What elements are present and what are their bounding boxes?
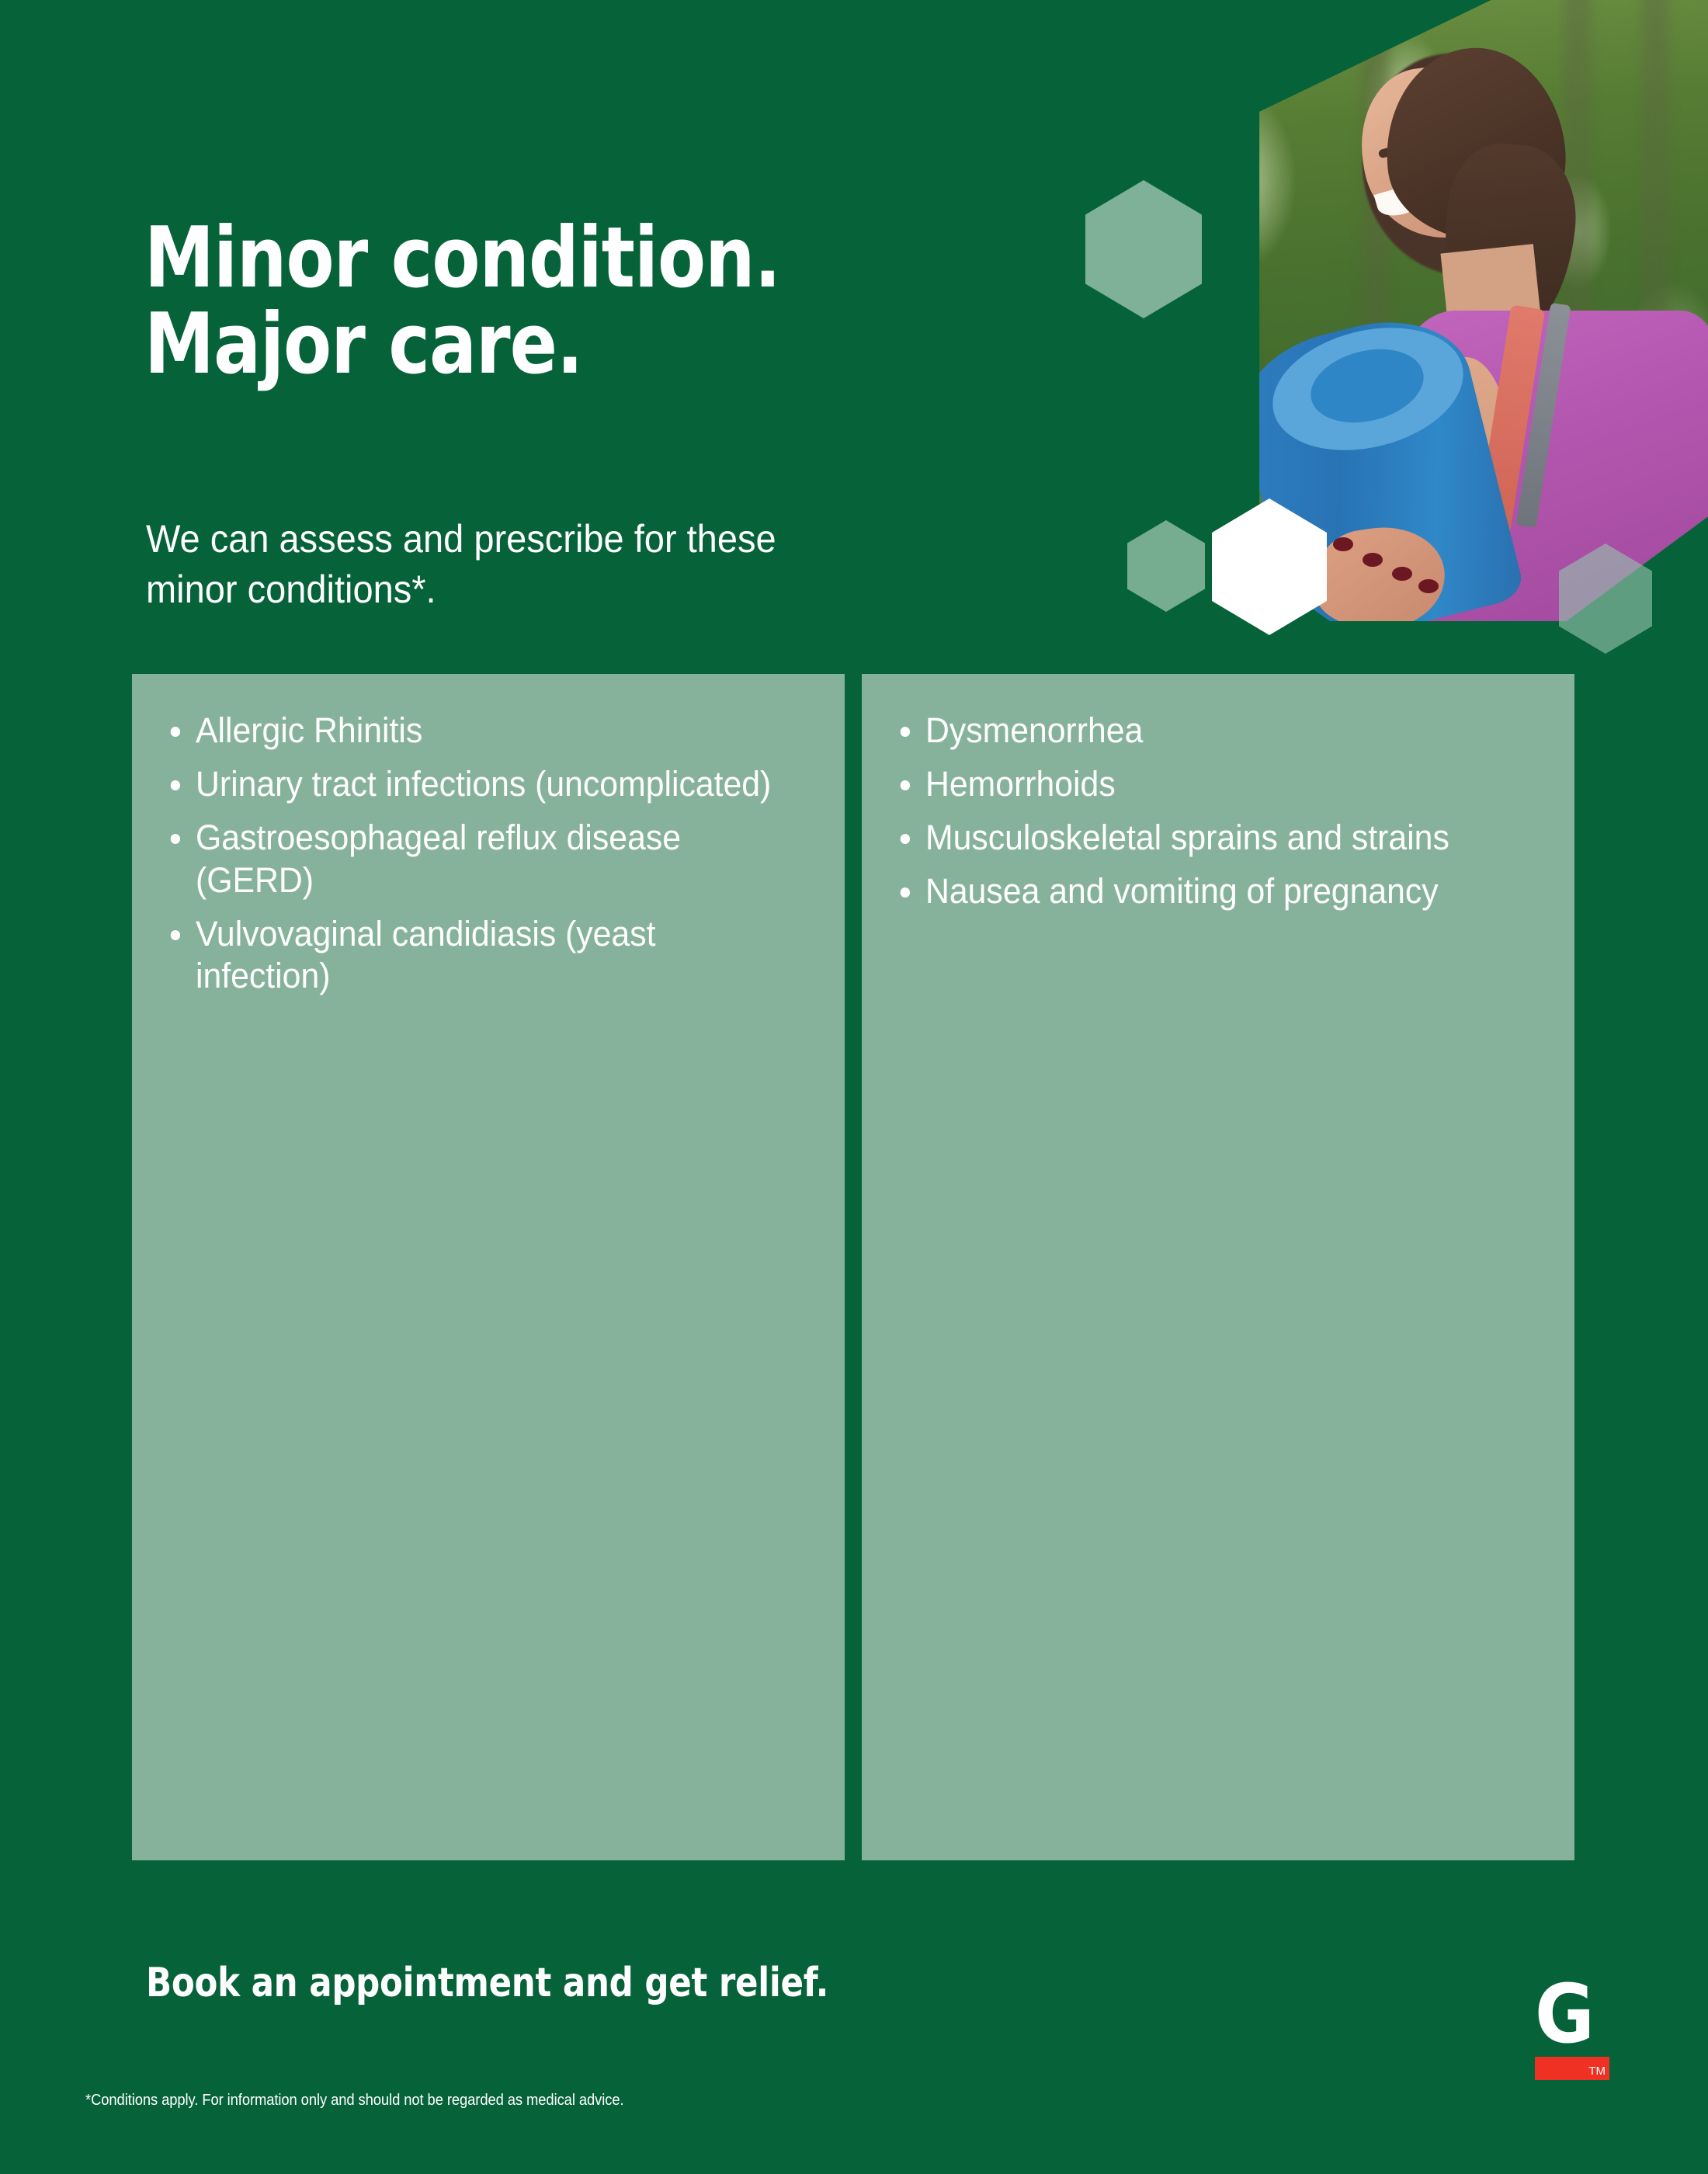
list-item: Nausea and vomiting of pregnancy [896, 870, 1508, 913]
logo-letter: G [1535, 1980, 1609, 2049]
list-item: Urinary tract infections (uncomplicated) [166, 763, 779, 806]
subheading: We can assess and prescribe for these mi… [146, 514, 1022, 615]
poster-canvas: Minor condition. Major care. We can asse… [0, 0, 1708, 2174]
subheading-line-1: We can assess and prescribe for these [146, 514, 1022, 564]
conditions-list-left: Allergic Rhinitis Urinary tract infectio… [132, 674, 845, 998]
conditions-panel-right: Dysmenorrhea Hemorrhoids Musculoskeletal… [862, 674, 1574, 1860]
fingernail [1333, 537, 1353, 551]
call-to-action-text: Book an appointment and get relief. [146, 1960, 828, 2006]
headline-line-2: Major care. [144, 302, 1047, 387]
hero-photo [1130, 0, 1708, 621]
list-item: Musculoskeletal sprains and strains [896, 817, 1508, 860]
list-item: Gastroesophageal reflux disease (GERD) [166, 817, 779, 902]
fingernail [1392, 567, 1412, 581]
list-item: Allergic Rhinitis [166, 710, 779, 752]
subheading-line-2: minor conditions*. [146, 564, 1022, 615]
list-item: Hemorrhoids [896, 763, 1508, 806]
hexagon-accent-sage-top [1085, 180, 1202, 318]
conditions-panel-left: Allergic Rhinitis Urinary tract infectio… [132, 674, 845, 1860]
list-item: Dysmenorrhea [896, 710, 1508, 752]
brand-logo: G TM [1535, 1980, 1609, 2080]
conditions-list-right: Dysmenorrhea Hemorrhoids Musculoskeletal… [862, 674, 1574, 913]
fingernail [1418, 579, 1439, 593]
fingernail [1363, 553, 1383, 567]
logo-red-bar: TM [1535, 2057, 1609, 2080]
list-item: Vulvovaginal candidiasis (yeast infectio… [166, 913, 779, 998]
page-title: Minor condition. Major care. [144, 216, 1047, 387]
headline-line-1: Minor condition. [144, 216, 1047, 301]
disclaimer-text: *Conditions apply. For information only … [85, 2092, 623, 2110]
trademark-symbol: TM [1588, 2065, 1606, 2077]
hexagon-accent-sage-mid [1127, 520, 1205, 612]
